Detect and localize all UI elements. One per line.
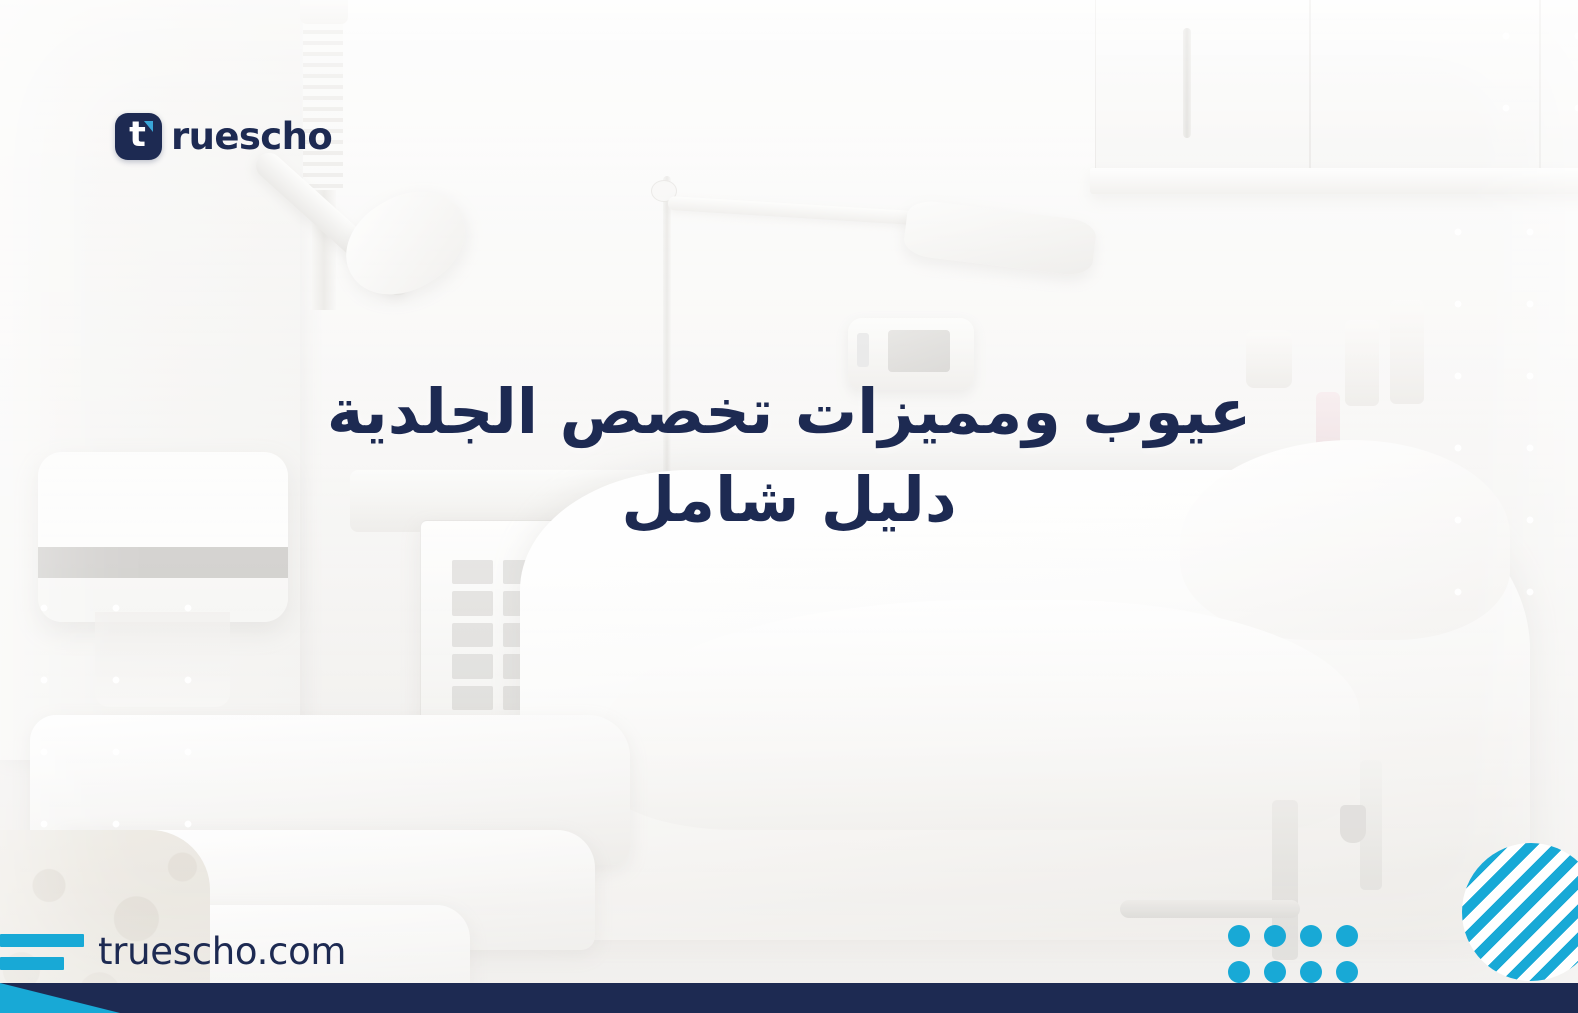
cyan-dot bbox=[1300, 961, 1322, 983]
navy-bottom-bar bbox=[0, 983, 1578, 1013]
poster-canvas: t ruescho عيوب ومميزات تخصص الجلدية دليل… bbox=[0, 0, 1578, 1013]
logo-letter-t: t bbox=[129, 118, 146, 153]
cyan-corner-triangle-icon bbox=[0, 983, 120, 1013]
cyan-bars-icon bbox=[0, 932, 100, 980]
page-title: عيوب ومميزات تخصص الجلدية دليل شامل bbox=[0, 368, 1578, 544]
cyan-dot bbox=[1300, 925, 1322, 947]
cyan-dot bbox=[1228, 925, 1250, 947]
cyan-dot bbox=[1336, 925, 1358, 947]
cyan-dot bbox=[1336, 961, 1358, 983]
truescho-t-mark-icon: t bbox=[115, 113, 162, 160]
cyan-dot-grid bbox=[1228, 925, 1358, 983]
brand-logo[interactable]: t ruescho bbox=[115, 113, 332, 160]
page-title-line-1: عيوب ومميزات تخصص الجلدية bbox=[327, 375, 1251, 448]
cyan-dot bbox=[1264, 925, 1286, 947]
page-title-line-2: دليل شامل bbox=[150, 456, 1428, 544]
footer-website-url[interactable]: truescho.com bbox=[98, 928, 346, 976]
cyan-dot bbox=[1228, 961, 1250, 983]
cyan-bar-bottom bbox=[0, 957, 64, 970]
cyan-dot bbox=[1264, 961, 1286, 983]
logo-wordmark: ruescho bbox=[171, 118, 332, 155]
cyan-bar-top bbox=[0, 934, 84, 947]
